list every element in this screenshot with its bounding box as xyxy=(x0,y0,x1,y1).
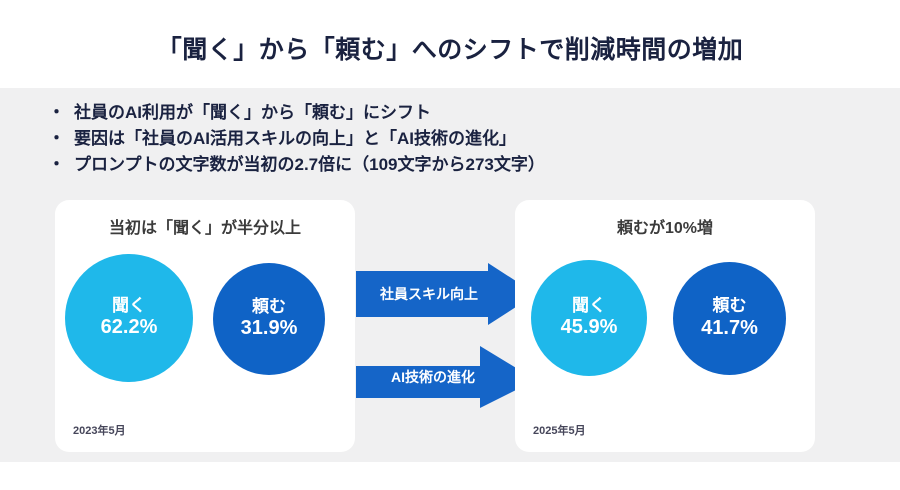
bullet-text: 要因は「社員のAI活用スキルの向上」と「AI技術の進化」 xyxy=(74,126,516,152)
bubble-after-tanomu: 頼む 41.7% xyxy=(673,262,786,375)
bubble-label: 聞く xyxy=(572,297,606,316)
bubble-value: 45.9% xyxy=(561,316,618,339)
bubble-after-kiku: 聞く 45.9% xyxy=(531,260,647,376)
slide-canvas: 「聞く」から「頼む」へのシフトで削減時間の増加 ・ 社員のAI利用が「聞く」から… xyxy=(0,0,900,490)
title-container: 「聞く」から「頼む」へのシフトで削減時間の増加 xyxy=(0,26,900,70)
card-heading-before: 当初は「聞く」が半分以上 xyxy=(55,214,355,238)
bullet-list: ・ 社員のAI利用が「聞く」から「頼む」にシフト ・ 要因は「社員のAI活用スキ… xyxy=(48,100,848,178)
bubble-label: 頼む xyxy=(252,298,286,317)
bubble-value: 31.9% xyxy=(241,317,298,340)
bubble-value: 62.2% xyxy=(101,316,158,339)
bullet-marker-icon: ・ xyxy=(48,126,74,152)
card-heading-after: 頼むが10%増 xyxy=(515,214,815,238)
bullet-marker-icon: ・ xyxy=(48,100,74,126)
bubble-label: 頼む xyxy=(713,297,747,316)
circle-group-after: 聞く 45.9% 頼む 41.7% xyxy=(515,248,815,398)
arrow-ai-advancement: AI技術の進化 xyxy=(356,346,536,408)
list-item: ・ プロンプトの文字数が当初の2.7倍に（109文字から273文字） xyxy=(48,152,848,178)
card-date-before: 2023年5月 xyxy=(73,422,126,438)
page-title: 「聞く」から「頼む」へのシフトで削減時間の増加 xyxy=(157,30,744,66)
list-item: ・ 要因は「社員のAI活用スキルの向上」と「AI技術の進化」 xyxy=(48,126,848,152)
list-item: ・ 社員のAI利用が「聞く」から「頼む」にシフト xyxy=(48,100,848,126)
arrow-right-icon xyxy=(356,346,536,408)
bullet-text: プロンプトの文字数が当初の2.7倍に（109文字から273文字） xyxy=(74,152,545,178)
bubble-before-tanomu: 頼む 31.9% xyxy=(213,263,325,375)
card-date-after: 2025年5月 xyxy=(533,422,586,438)
card-before-2023: 当初は「聞く」が半分以上 聞く 62.2% 頼む 31.9% 2023年5月 xyxy=(55,200,355,452)
arrow-right-icon xyxy=(356,263,536,325)
card-after-2025: 頼むが10%増 聞く 45.9% 頼む 41.7% 2025年5月 xyxy=(515,200,815,452)
arrow-skill-improvement: 社員スキル向上 xyxy=(356,263,536,325)
bubble-before-kiku: 聞く 62.2% xyxy=(65,254,193,382)
circle-group-before: 聞く 62.2% 頼む 31.9% xyxy=(55,248,355,398)
bubble-value: 41.7% xyxy=(701,317,758,340)
bubble-label: 聞く xyxy=(112,297,146,316)
content-band: ・ 社員のAI利用が「聞く」から「頼む」にシフト ・ 要因は「社員のAI活用スキ… xyxy=(0,88,900,462)
bullet-marker-icon: ・ xyxy=(48,152,74,178)
bullet-text: 社員のAI利用が「聞く」から「頼む」にシフト xyxy=(74,100,431,126)
